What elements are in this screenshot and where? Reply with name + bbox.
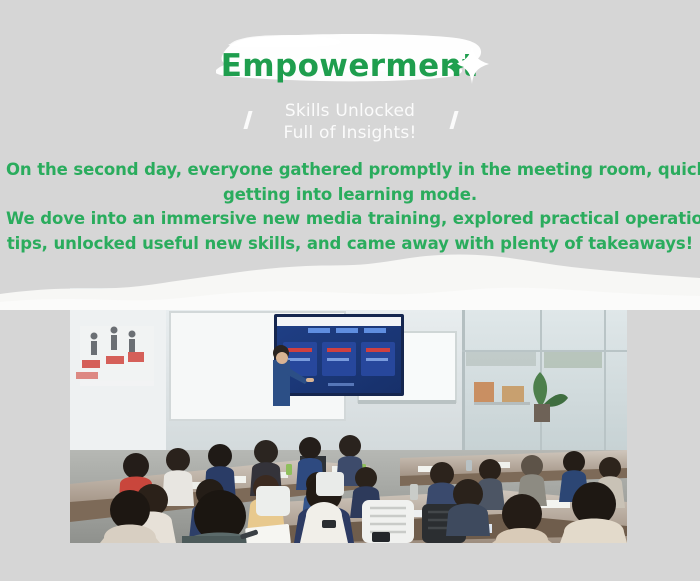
wall-poster [76,326,154,386]
body-paragraph: On the second day, everyone gathered pro… [6,158,694,256]
subtitle-block: Skills Unlocked Full of Insights! [0,100,700,148]
body-line-1: On the second day, everyone gathered pro… [6,158,694,183]
title-block: Empowerment [0,22,700,92]
sparkle-green-icon [446,58,464,76]
page-title-text: Empowerment [221,48,480,84]
subtitle: Skills Unlocked Full of Insights! [0,100,700,144]
presentation-screen [274,314,404,396]
body-line-4: tips, unlocked useful new skills, and ca… [6,232,694,257]
poster-canvas: Empowerment Skills Unlocked Full of Insi… [0,0,700,581]
body-line-2: getting into learning mode. [6,183,694,208]
subtitle-line-2: Full of Insights! [0,122,700,144]
body-line-3: We dove into an immersive new media trai… [6,207,694,232]
page-title: Empowerment [0,48,700,84]
subtitle-line-1: Skills Unlocked [0,100,700,122]
meeting-room-training-photo [70,288,627,543]
